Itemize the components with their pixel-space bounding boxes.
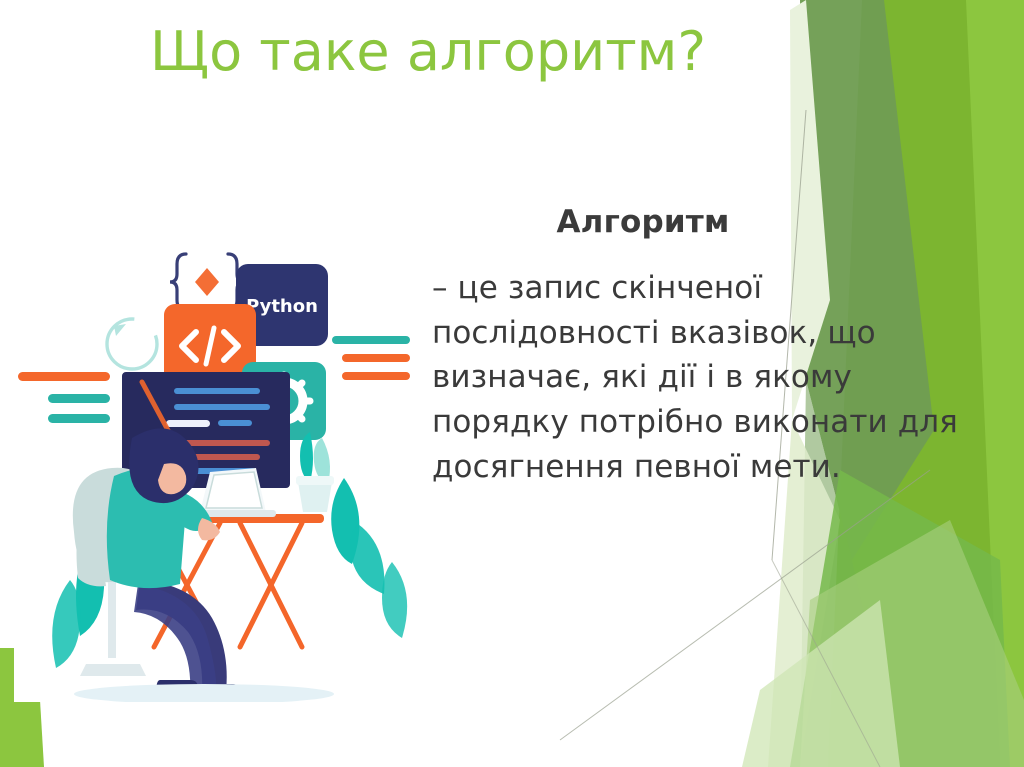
definition-body: – це запис скінченої послідовності вказі…: [432, 266, 992, 489]
python-label: Python: [246, 296, 318, 317]
decor-shape-bottom-left-tail: [24, 700, 44, 767]
decor-shape-mid-green-lower: [790, 470, 1010, 767]
decor-shape-light-lower-left: [742, 600, 900, 767]
decor-line-lower: [772, 560, 880, 767]
decor-shape-soft-green-lower: [800, 520, 1024, 767]
programmer-at-desk-illustration: Python: [14, 232, 424, 702]
definition-term: Алгоритм: [432, 204, 992, 240]
decorative-bars-right: [332, 336, 410, 380]
slide-root: Що таке алгоритм? Python: [0, 0, 1024, 767]
page-title: Що таке алгоритм?: [150, 24, 850, 81]
decor-line-diagonal: [560, 470, 930, 740]
definition-text-block: Алгоритм – це запис скінченої послідовно…: [432, 204, 992, 489]
